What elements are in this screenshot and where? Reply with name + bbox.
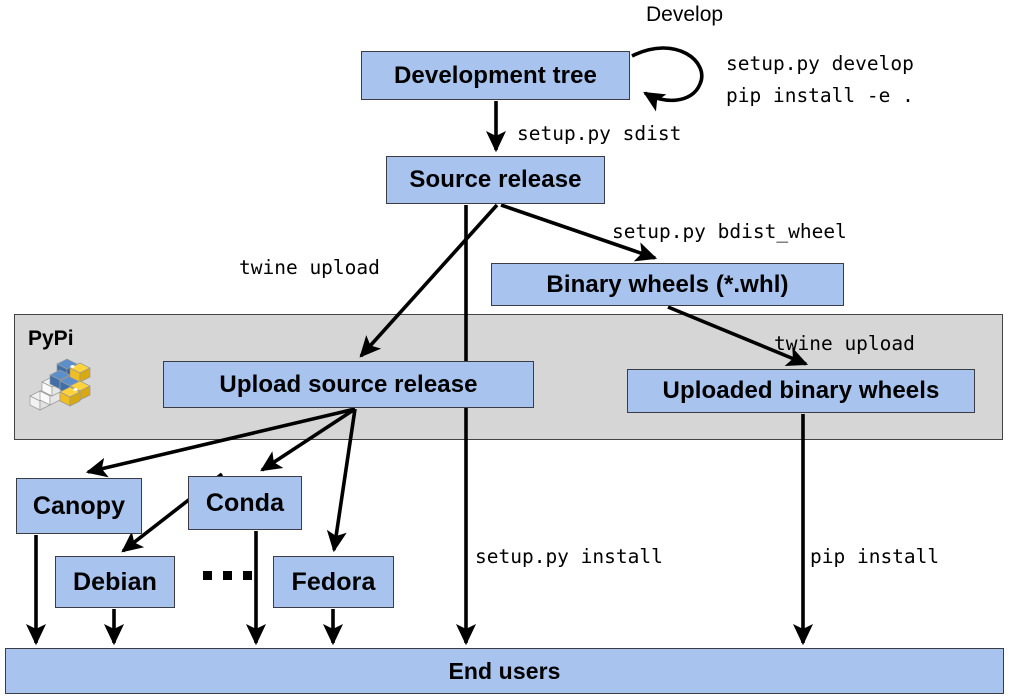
node-debian-label: Debian	[73, 568, 157, 597]
node-binary-wheels-label: Binary wheels (*.whl)	[546, 271, 788, 299]
label-setup-py-develop: setup.py develop	[726, 52, 914, 75]
label-develop: Develop	[646, 3, 723, 27]
label-twine-upload-source: twine upload	[239, 256, 380, 279]
node-canopy[interactable]: Canopy	[16, 478, 142, 534]
label-pip-install-editable: pip install -e .	[726, 84, 914, 107]
node-development-tree[interactable]: Development tree	[361, 51, 630, 100]
label-setup-py-sdist: setup.py sdist	[517, 122, 681, 145]
ellipsis-dot	[203, 571, 212, 580]
edge-upload-source-to-fedora	[334, 409, 355, 550]
label-pip-install: pip install	[810, 545, 939, 568]
node-end-users[interactable]: End users	[5, 648, 1004, 694]
label-setup-py-install: setup.py install	[475, 545, 663, 568]
node-upload-source-release[interactable]: Upload source release	[163, 361, 534, 408]
node-conda-label: Conda	[206, 489, 284, 518]
edge-develop-self-loop	[632, 48, 702, 100]
ellipsis-dots	[203, 571, 252, 580]
node-uploaded-binary-wheels[interactable]: Uploaded binary wheels	[627, 369, 975, 413]
label-setup-py-bdist-wheel: setup.py bdist_wheel	[612, 220, 847, 243]
ellipsis-dot	[223, 571, 232, 580]
node-fedora[interactable]: Fedora	[273, 556, 394, 608]
ellipsis-dot	[243, 571, 252, 580]
node-end-users-label: End users	[448, 658, 560, 685]
edge-source-to-upload-source	[361, 205, 497, 356]
node-upload-source-release-label: Upload source release	[219, 371, 477, 399]
node-conda[interactable]: Conda	[188, 476, 302, 530]
node-canopy-label: Canopy	[33, 492, 125, 521]
node-fedora-label: Fedora	[292, 568, 376, 597]
node-source-release-label: Source release	[409, 166, 581, 194]
edge-upload-source-to-canopy	[88, 409, 355, 472]
node-binary-wheels[interactable]: Binary wheels (*.whl)	[491, 263, 844, 306]
label-twine-upload-wheels: twine upload	[774, 332, 915, 355]
diagram-canvas: PyPi	[0, 0, 1009, 698]
node-debian[interactable]: Debian	[55, 556, 175, 608]
node-source-release[interactable]: Source release	[386, 156, 605, 204]
node-uploaded-binary-wheels-label: Uploaded binary wheels	[663, 377, 940, 405]
node-development-tree-label: Development tree	[394, 62, 597, 90]
